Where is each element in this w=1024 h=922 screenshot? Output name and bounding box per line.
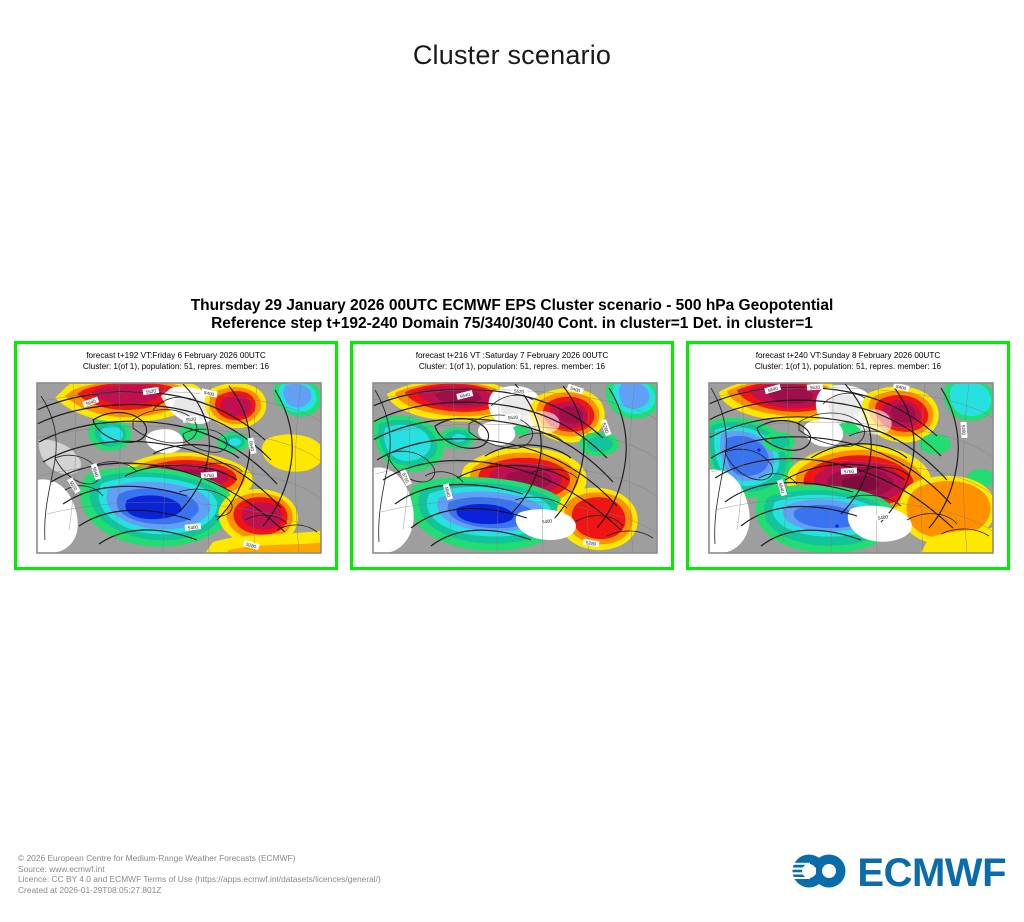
panel-caption-line-2: Cluster: 1(of 1), population: 51, repres… (416, 362, 609, 373)
chart-heading: Thursday 29 January 2026 00UTC ECMWF EPS… (0, 297, 1024, 333)
footer-source: Source: www.ecmwf.int (18, 864, 381, 874)
svg-text:5520: 5520 (508, 415, 519, 421)
panel-caption-t240: forecast t+240 VT:Sunday 8 February 2026… (755, 351, 941, 372)
footer-attribution: © 2026 European Centre for Medium-Range … (18, 853, 381, 895)
map-svg-t240: 5640 5520 5400 5280 5640 5760 5400 (705, 380, 997, 556)
panel-caption-line-1: forecast t+240 VT:Sunday 8 February 2026… (755, 351, 941, 362)
svg-text:5760: 5760 (204, 473, 215, 479)
ecmwf-wordmark: ECMWF (857, 853, 1006, 893)
chart-heading-line-1: Thursday 29 January 2026 00UTC ECMWF EPS… (0, 297, 1024, 315)
footer-copyright: © 2026 European Centre for Medium-Range … (18, 853, 381, 863)
map-panels-row: forecast t+192 VT:Friday 6 February 2026… (14, 341, 1010, 570)
svg-text:5280: 5280 (961, 425, 967, 436)
svg-text:5520: 5520 (186, 417, 197, 423)
ecmwf-double-circle-mark (790, 850, 848, 897)
footer-created: Created at 2026-01-29T08:05:27.801Z (18, 885, 381, 895)
map-panel-t240[interactable]: forecast t+240 VT:Sunday 8 February 2026… (686, 341, 1010, 570)
map-plot-t240[interactable]: 5640 5520 5400 5280 5640 5760 5400 (705, 380, 997, 556)
svg-text:5520: 5520 (810, 385, 821, 391)
footer-licence: Licence: CC BY 4.0 and ECMWF Terms of Us… (18, 874, 381, 884)
panel-caption-line-1: forecast t+216 VT :Saturday 7 February 2… (416, 351, 609, 362)
panel-caption-t192: forecast t+192 VT:Friday 6 February 2026… (83, 351, 269, 372)
panel-caption-line-2: Cluster: 1(of 1), population: 51, repres… (755, 362, 941, 373)
map-plot-t192[interactable]: 5640 5520 5400 5520 5640 5640 5520 5400 … (33, 380, 325, 556)
ecmwf-logo: ECMWF (790, 850, 1006, 896)
map-panel-t192[interactable]: forecast t+192 VT:Friday 6 February 2026… (14, 341, 338, 570)
panel-caption-t216: forecast t+216 VT :Saturday 7 February 2… (416, 351, 609, 372)
panel-caption-line-1: forecast t+192 VT:Friday 6 February 2026… (83, 351, 269, 362)
chart-heading-line-2: Reference step t+192-240 Domain 75/340/3… (0, 315, 1024, 333)
map-plot-t216[interactable]: 5640 5520 5400 5520 5280 5760 5640 5400 … (369, 380, 661, 556)
svg-text:5760: 5760 (844, 469, 855, 475)
panel-caption-line-2: Cluster: 1(of 1), population: 51, repres… (83, 362, 269, 373)
map-svg-t216: 5640 5520 5400 5520 5280 5760 5640 5400 … (369, 380, 661, 556)
map-svg-t192: 5640 5520 5400 5520 5640 5640 5520 5400 … (33, 380, 325, 556)
map-panel-t216[interactable]: forecast t+216 VT :Saturday 7 February 2… (350, 341, 674, 570)
page-title: Cluster scenario (0, 40, 1024, 71)
